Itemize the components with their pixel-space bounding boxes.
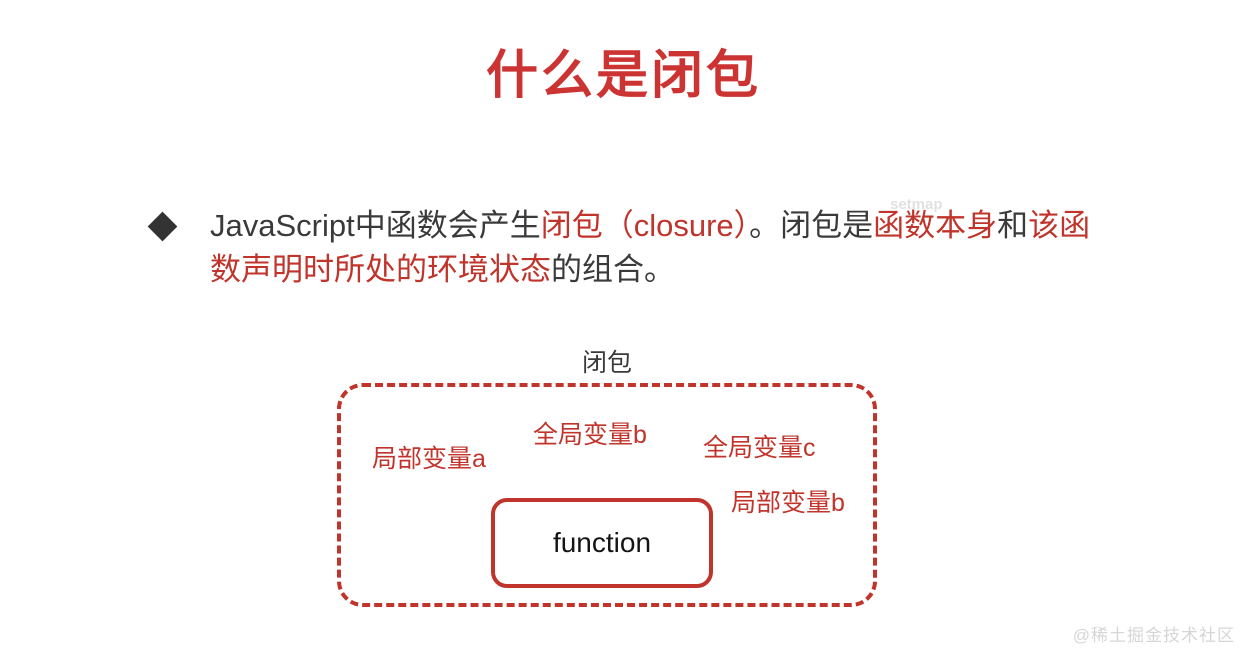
- page-title: 什么是闭包: [0, 48, 1247, 105]
- bullet-paragraph: JavaScript中函数会产生闭包（closure）。闭包是函数本身和该函数声…: [210, 204, 1092, 292]
- variable-label-local-b: 局部变量b: [731, 488, 845, 518]
- bullet-segment-1: 闭包（closure）: [541, 208, 749, 243]
- bullet-segment-3: 函数本身: [873, 208, 997, 243]
- variable-label-global-c: 全局变量c: [703, 433, 816, 463]
- bullet-segment-4: 和: [997, 208, 1028, 243]
- bullet-segment-2: 。闭包是: [749, 208, 873, 243]
- closure-diagram: 闭包 局部变量a 全局变量b 全局变量c 局部变量b function setm…: [337, 348, 877, 610]
- variable-label-local-a: 局部变量a: [372, 444, 486, 474]
- variable-label-global-b: 全局变量b: [533, 420, 647, 450]
- watermark-corner: @稀土掘金技术社区: [1073, 621, 1235, 646]
- function-box: function: [491, 498, 713, 588]
- slide-canvas: 什么是闭包 JavaScript中函数会产生闭包（closure）。闭包是函数本…: [0, 0, 1247, 660]
- bullet-segment-6: 的组合。: [551, 252, 675, 287]
- bullet-block: JavaScript中函数会产生闭包（closure）。闭包是函数本身和该函数声…: [152, 204, 1092, 292]
- function-box-label: function: [553, 529, 651, 557]
- closure-caption-label: 闭包: [337, 348, 877, 378]
- bullet-segment-0: JavaScript中函数会产生: [210, 208, 541, 243]
